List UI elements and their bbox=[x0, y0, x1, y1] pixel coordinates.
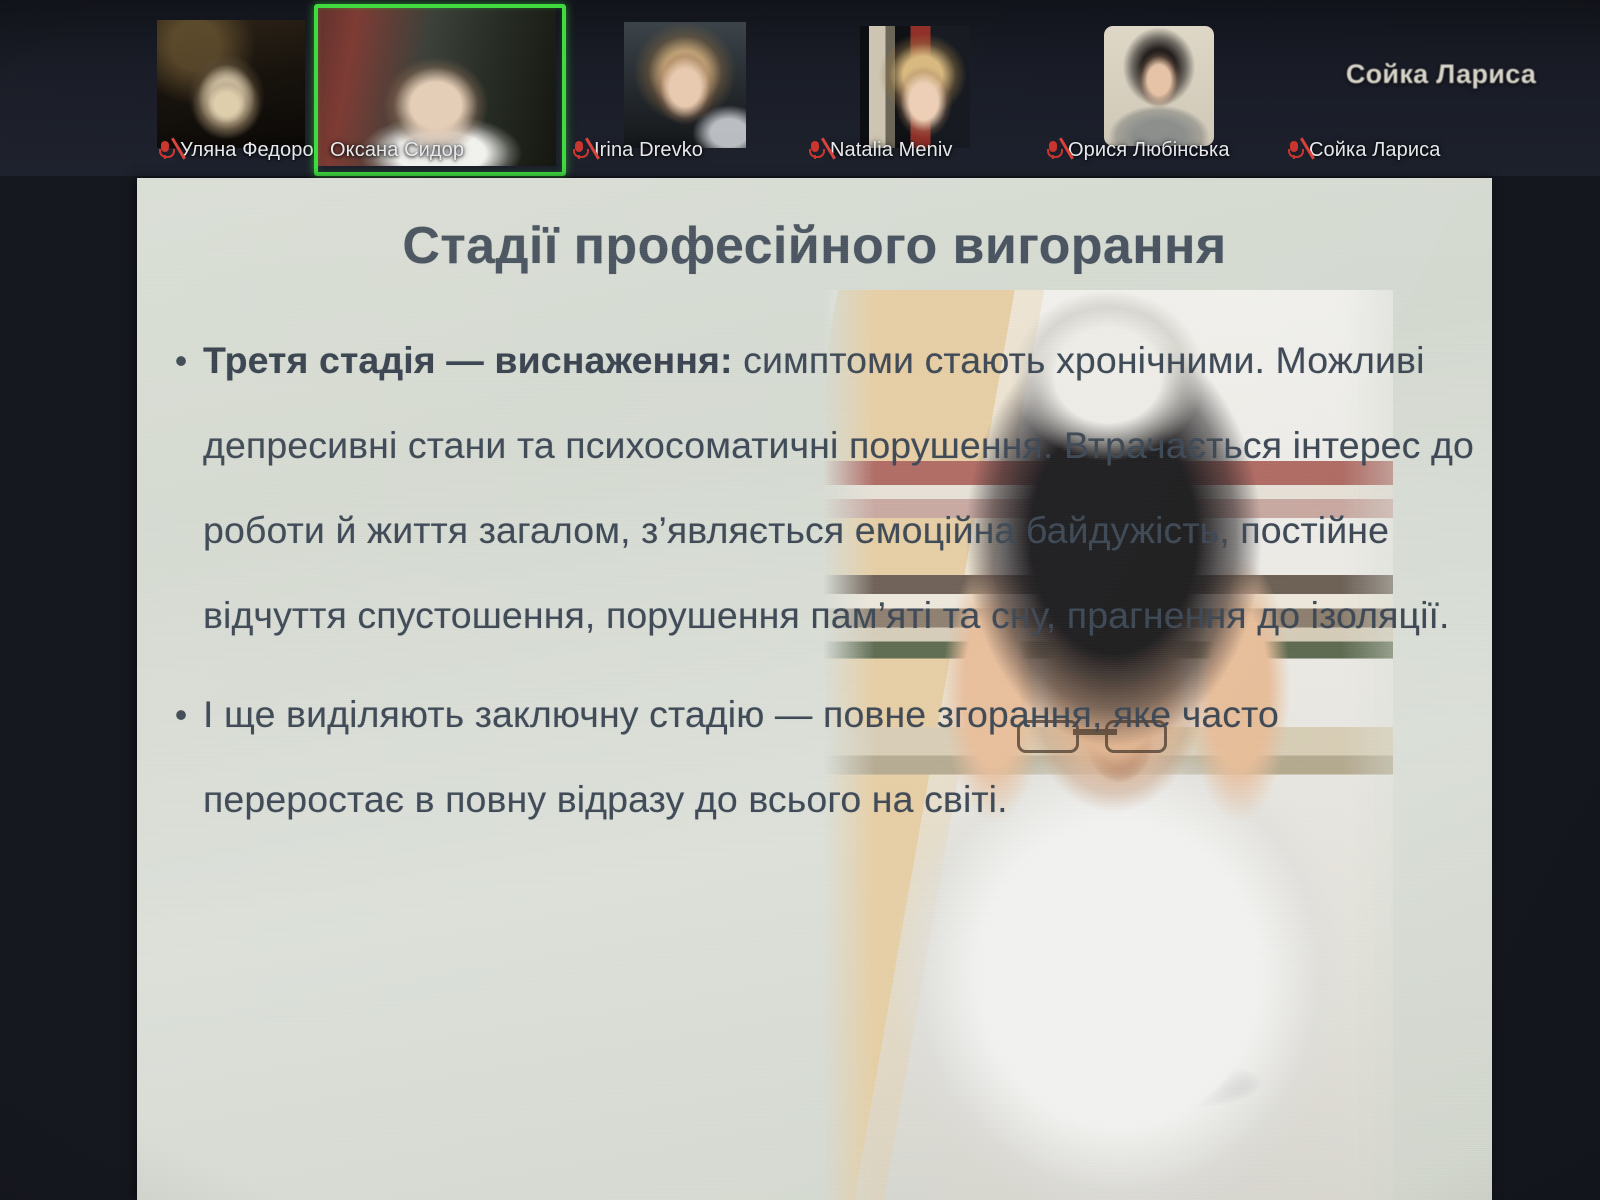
slide-bullet-2: • І ще виділяють заключну стадію — повне… bbox=[159, 672, 1478, 842]
participant-name: Орися Любінська bbox=[1068, 139, 1230, 162]
participant-video bbox=[157, 20, 305, 148]
participant-name: Irina Drevko bbox=[594, 139, 703, 162]
projected-screen-photo: Уляна Федорович Оксана Сидор Irina Drevk… bbox=[0, 0, 1600, 1200]
participant-tile-ulyana-fedorovych[interactable]: Уляна Федорович bbox=[82, 0, 304, 170]
participant-name: Natalia Meniv bbox=[830, 139, 952, 162]
participant-no-video-name: Сойка Лариса bbox=[1282, 18, 1600, 130]
participant-name: Оксана Сидор bbox=[330, 139, 464, 162]
slide-bullet-1: • Третя стадія — виснаження: симптоми ст… bbox=[159, 318, 1478, 658]
slide-bullet-1-text: Третя стадія — виснаження: симптоми стаю… bbox=[203, 318, 1478, 658]
microphone-muted-icon bbox=[808, 140, 823, 161]
slide-body: • Третя стадія — виснаження: симптоми ст… bbox=[159, 318, 1478, 842]
participant-tile-natalia-meniv[interactable]: Natalia Meniv bbox=[800, 0, 1020, 170]
participant-tile-oksana-sydor[interactable]: Оксана Сидор bbox=[312, 0, 560, 170]
microphone-muted-icon bbox=[1046, 140, 1061, 161]
microphone-muted-icon bbox=[158, 140, 173, 161]
slide-bullet-1-lead: Третя стадія — виснаження: bbox=[203, 339, 733, 381]
participant-tile-orysia-liubinska[interactable]: Орися Любінська bbox=[1030, 0, 1280, 170]
zoom-participant-filmstrip: Уляна Федорович Оксана Сидор Irina Drevk… bbox=[0, 0, 1600, 176]
participant-name: Сойка Лариса bbox=[1309, 139, 1440, 162]
slide-bullet-2-text: І ще виділяють заключну стадію — повне з… bbox=[203, 672, 1478, 842]
participant-video bbox=[624, 22, 746, 148]
participant-tile-soika-larysa[interactable]: Сойка Лариса Сойка Лариса bbox=[1282, 0, 1600, 170]
participant-avatar bbox=[1104, 26, 1214, 146]
microphone-muted-icon bbox=[572, 140, 587, 161]
participant-tile-irina-drevko[interactable]: Irina Drevko bbox=[562, 0, 780, 170]
slide-bullet-1-rest: симптоми стають хронічними. Можливі депр… bbox=[203, 339, 1474, 636]
shared-presentation-slide[interactable]: Стадії професійного вигорання • Третя ст… bbox=[137, 178, 1492, 1200]
microphone-muted-icon bbox=[1287, 140, 1302, 161]
participant-video bbox=[860, 26, 970, 148]
bullet-glyph: • bbox=[159, 672, 203, 757]
bullet-glyph: • bbox=[159, 318, 203, 403]
slide-title: Стадії професійного вигорання bbox=[137, 216, 1492, 276]
